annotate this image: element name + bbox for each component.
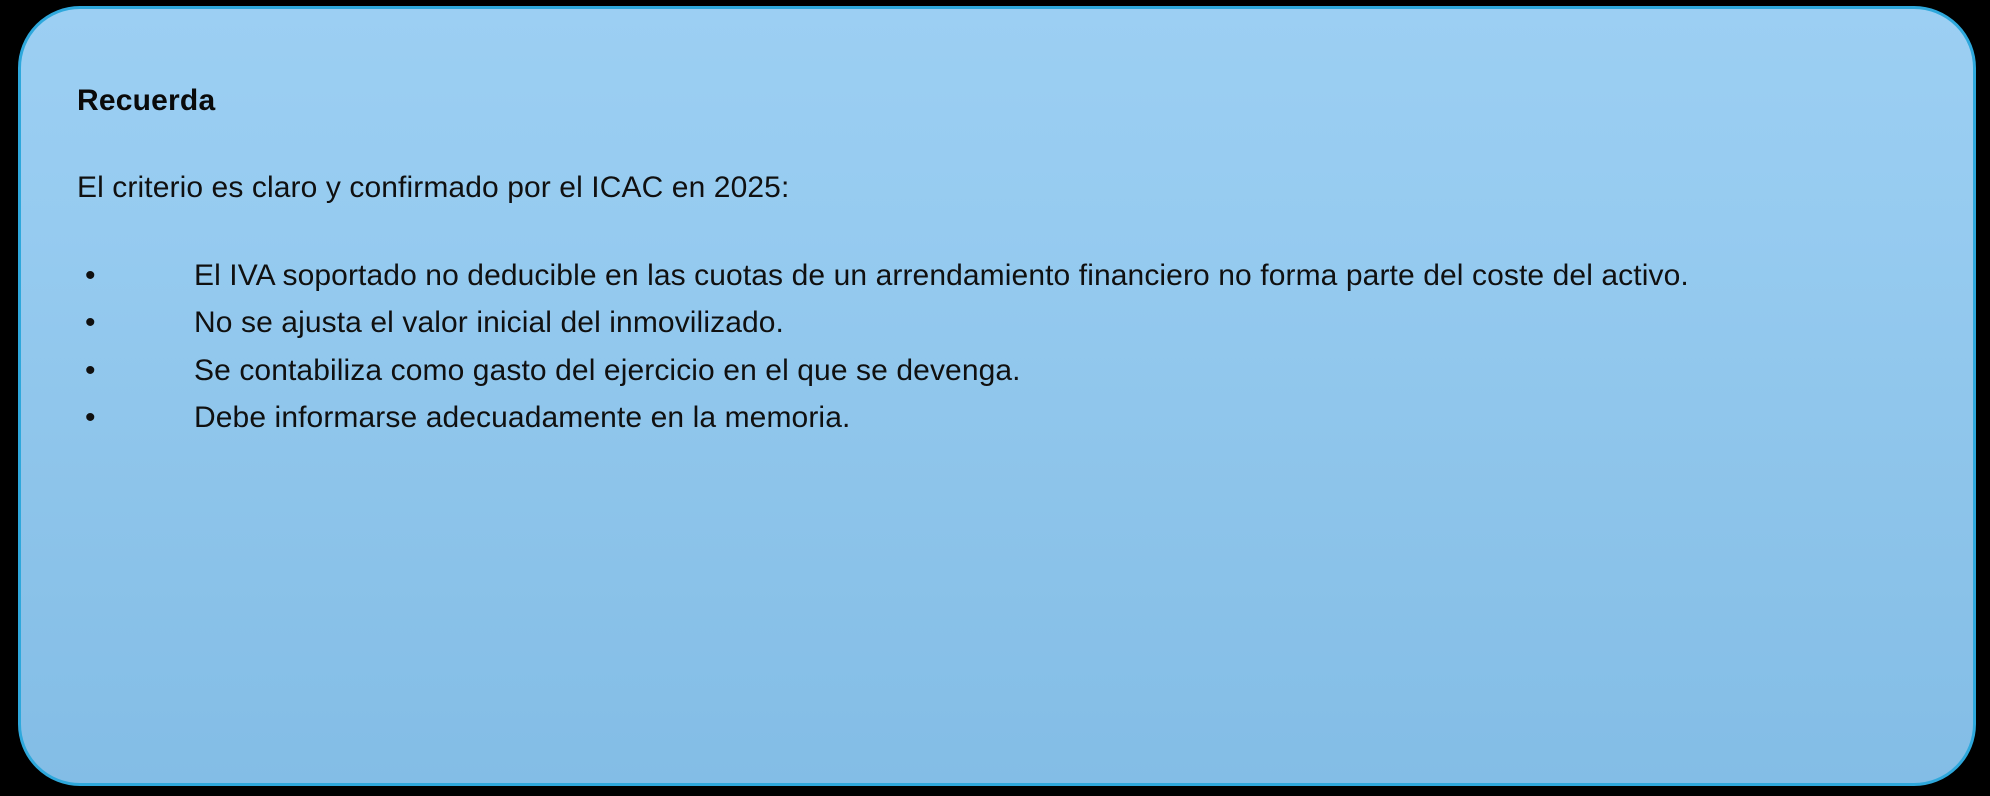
bullet-point-icon: •	[85, 395, 96, 442]
recuerda-callout-card: Recuerda El criterio es claro y confirma…	[18, 6, 1976, 786]
list-item-text: No se ajusta el valor inicial del inmovi…	[194, 300, 1834, 347]
list-item: • El IVA soportado no deducible en las c…	[57, 253, 1943, 300]
list-item-text: El IVA soportado no deducible en las cuo…	[194, 253, 1834, 300]
list-item-text: Se contabiliza como gasto del ejercicio …	[194, 348, 1834, 395]
bullet-point-icon: •	[85, 300, 96, 347]
callout-heading: Recuerda	[77, 83, 1943, 119]
callout-content: Recuerda El criterio es claro y confirma…	[57, 83, 1943, 443]
list-item: • Debe informarse adecuadamente en la me…	[57, 395, 1943, 442]
bullet-point-icon: •	[85, 348, 96, 395]
callout-intro-text: El criterio es claro y confirmado por el…	[77, 169, 1943, 207]
bullet-point-icon: •	[85, 253, 96, 300]
callout-bullet-list: • El IVA soportado no deducible en las c…	[57, 253, 1943, 442]
list-item: • Se contabiliza como gasto del ejercici…	[57, 348, 1943, 395]
list-item: • No se ajusta el valor inicial del inmo…	[57, 300, 1943, 347]
list-item-text: Debe informarse adecuadamente en la memo…	[194, 395, 1834, 442]
